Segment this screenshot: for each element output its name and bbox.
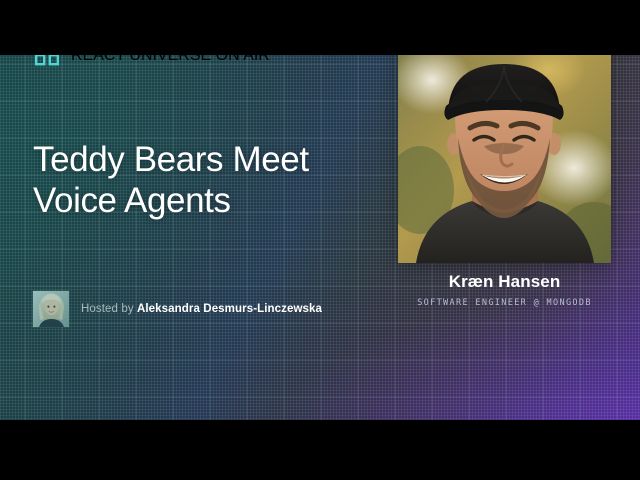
letterbox-top — [0, 0, 640, 55]
letterbox-bottom — [0, 420, 640, 480]
host-caption: Hosted by Aleksandra Desmurs-Linczewska — [81, 303, 322, 315]
talk-title-line-2: Voice Agents — [33, 181, 383, 222]
talk-title-line-1: Teddy Bears Meet — [33, 140, 383, 181]
host-prefix-label: Hosted by — [81, 303, 137, 315]
video-frame: REACT UNIVERSE ON AIR Teddy Bears Meet V… — [0, 0, 640, 480]
speaker-role: SOFTWARE ENGINEER @ MONGODB — [398, 298, 611, 308]
speaker-name: Kræn Hansen — [398, 272, 611, 292]
host-row: Hosted by Aleksandra Desmurs-Linczewska — [33, 291, 322, 327]
speaker-caption: Kræn Hansen SOFTWARE ENGINEER @ MONGODB — [398, 272, 611, 308]
host-avatar-photo — [33, 291, 69, 327]
speaker-portrait-photo — [398, 40, 611, 263]
talk-title: Teddy Bears Meet Voice Agents — [33, 140, 383, 222]
host-name: Aleksandra Desmurs-Linczewska — [137, 303, 322, 315]
